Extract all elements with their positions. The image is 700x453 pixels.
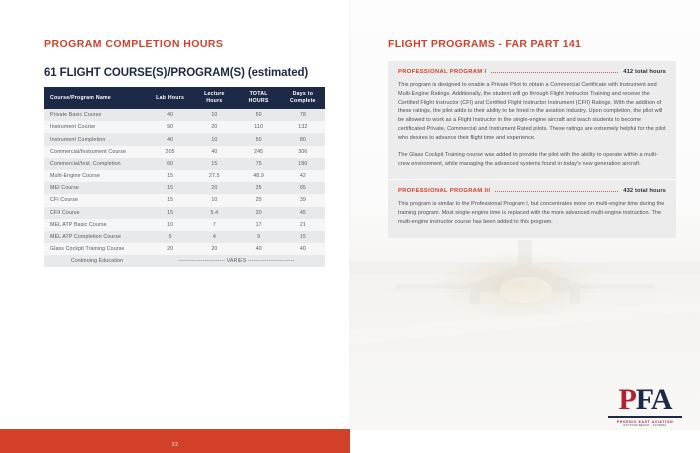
cell-lab-hours: 10	[148, 219, 192, 231]
leader-dots	[491, 72, 618, 73]
cell-lab-hours: 15	[148, 182, 192, 194]
cell-total-hours: 48.9	[237, 170, 281, 182]
cell-total-hours: 50	[237, 109, 281, 121]
professional-program-3-panel: PROFESSIONAL PROGRAM III 432 total hours…	[388, 180, 676, 237]
cell-lab-hours: 40	[148, 109, 192, 121]
program-1-paragraph-2: The Glass Cockpit Training course was ad…	[398, 151, 666, 169]
cell-lecture-hours: 10	[192, 194, 236, 206]
flight-courses-subtitle: 61 FLIGHT COURSE(S)/PROGRAM(S) (estimate…	[44, 67, 318, 79]
cell-lecture-hours: 10	[192, 109, 236, 121]
column-header-lab-hours: Lab Hours	[148, 87, 192, 109]
cell-days-to-complete: 80	[281, 133, 325, 145]
cell-course-name: MEL ATP Completion Course	[44, 231, 148, 243]
cell-total-hours: 50	[237, 133, 281, 145]
cell-total-hours: 35	[237, 182, 281, 194]
cell-lab-hours: 5	[148, 231, 192, 243]
cell-lab-hours: 20	[148, 243, 192, 255]
leader-dots	[495, 191, 618, 192]
column-header-lecture-hours: Lecture Hours	[192, 87, 236, 109]
cell-varies: ------------------------- VARIES -------…	[148, 255, 325, 267]
left-page-number: 22	[0, 442, 350, 448]
cell-days-to-complete: 39	[281, 194, 325, 206]
table-row: Private Basic Course40105078	[44, 109, 325, 121]
cell-course-name: MEL ATP Basic Course	[44, 219, 148, 231]
table-row: Commercial/Instrument Course20540245306	[44, 146, 325, 158]
pfa-logo-letters: PFA	[608, 385, 682, 415]
program-hours-table: Course/Program Name Lab Hours Lecture Ho…	[44, 87, 325, 267]
cell-course-name: MEI Course	[44, 182, 148, 194]
column-header-course-name: Course/Program Name	[44, 87, 148, 109]
cell-lab-hours: 205	[148, 146, 192, 158]
cell-total-hours: 17	[237, 219, 281, 231]
cell-course-name: Glass Cockpit Training Course	[44, 243, 148, 255]
table-header: Course/Program Name Lab Hours Lecture Ho…	[44, 87, 325, 109]
pfa-logo: PFA PHOENIX EAST AVIATION DAYTONA BEACH …	[608, 385, 682, 427]
table-row-continuing-education: Continuing Education--------------------…	[44, 255, 325, 267]
right-page-content: FLIGHT PROGRAMS - FAR PART 141 PROFESSIO…	[350, 0, 700, 238]
program-completion-hours-title: PROGRAM COMPLETION HOURS	[44, 38, 318, 50]
right-page: FLIGHT PROGRAMS - FAR PART 141 PROFESSIO…	[350, 0, 700, 453]
professional-program-3-heading: PROFESSIONAL PROGRAM III 432 total hours	[398, 188, 666, 194]
program-1-label: PROFESSIONAL PROGRAM I	[398, 69, 486, 75]
cell-lecture-hours: 40	[192, 146, 236, 158]
table-row: MEI Course15203565	[44, 182, 325, 194]
cell-days-to-complete: 15	[281, 231, 325, 243]
cell-total-hours: 40	[237, 243, 281, 255]
cell-lecture-hours: 20	[192, 182, 236, 194]
program-1-paragraph-1: This program is designed to enable a Pri…	[398, 81, 666, 143]
cell-lecture-hours: 7	[192, 219, 236, 231]
cell-lab-hours: 60	[148, 158, 192, 170]
cell-course-name: Commercial/Instrument Course	[44, 146, 148, 158]
flight-programs-title: FLIGHT PROGRAMS - FAR PART 141	[388, 38, 676, 50]
table-row: CFII Course155.42045	[44, 207, 325, 219]
cell-total-hours: 25	[237, 194, 281, 206]
cell-course-name: Commercial/Inst. Completion	[44, 158, 148, 170]
cell-lecture-hours: 20	[192, 121, 236, 133]
cell-lecture-hours: 10	[192, 133, 236, 145]
table-row: Commercial/Inst. Completion601575180	[44, 158, 325, 170]
program-3-label: PROFESSIONAL PROGRAM III	[398, 188, 490, 194]
cell-lecture-hours: 15	[192, 158, 236, 170]
cell-lab-hours: 15	[148, 207, 192, 219]
cell-days-to-complete: 40	[281, 243, 325, 255]
cell-days-to-complete: 180	[281, 158, 325, 170]
left-footer-bar: 22	[0, 429, 350, 453]
cell-days-to-complete: 42	[281, 170, 325, 182]
professional-program-1-panel: PROFESSIONAL PROGRAM I 412 total hours T…	[388, 61, 676, 179]
cell-lab-hours: 15	[148, 194, 192, 206]
cell-course-name: CFI Course	[44, 194, 148, 206]
cell-course-name: Instrument Course	[44, 121, 148, 133]
program-3-hours: 432 total hours	[623, 188, 666, 194]
cell-total-hours: 245	[237, 146, 281, 158]
cell-lecture-hours: 27.5	[192, 170, 236, 182]
program-1-hours: 412 total hours	[623, 69, 666, 75]
table-row: Glass Cockpit Training Course20204040	[44, 243, 325, 255]
table-row: CFI Course15102539	[44, 194, 325, 206]
table-row: MEL ATP Basic Course1071721	[44, 219, 325, 231]
logo-subtitle: PHOENIX EAST AVIATION	[608, 420, 682, 424]
table-row: MEL ATP Completion Course54915	[44, 231, 325, 243]
cell-days-to-complete: 21	[281, 219, 325, 231]
logo-divider	[608, 416, 682, 418]
cell-days-to-complete: 65	[281, 182, 325, 194]
cell-total-hours: 20	[237, 207, 281, 219]
table-row: Instrument Course9020110132	[44, 121, 325, 133]
cell-days-to-complete: 132	[281, 121, 325, 133]
logo-tagline: DAYTONA BEACH - FLORIDA	[608, 424, 682, 427]
table-body: Private Basic Course40105078Instrument C…	[44, 109, 325, 267]
professional-program-1-heading: PROFESSIONAL PROGRAM I 412 total hours	[398, 69, 666, 75]
cell-lecture-hours: 5.4	[192, 207, 236, 219]
cell-total-hours: 9	[237, 231, 281, 243]
cell-days-to-complete: 306	[281, 146, 325, 158]
cell-days-to-complete: 78	[281, 109, 325, 121]
cell-course-name: CFII Course	[44, 207, 148, 219]
page-spread: PROGRAM COMPLETION HOURS 61 FLIGHT COURS…	[0, 0, 700, 453]
cell-total-hours: 75	[237, 158, 281, 170]
cell-lab-hours: 15	[148, 170, 192, 182]
page-gutter-shadow	[349, 0, 351, 429]
table-row: Instrument Completion40105080	[44, 133, 325, 145]
cell-lab-hours: 90	[148, 121, 192, 133]
cell-lab-hours: 40	[148, 133, 192, 145]
left-page: PROGRAM COMPLETION HOURS 61 FLIGHT COURS…	[0, 0, 350, 453]
left-page-content: PROGRAM COMPLETION HOURS 61 FLIGHT COURS…	[0, 0, 350, 267]
program-3-paragraph-1: This program is similar to the Professio…	[398, 200, 666, 226]
column-header-total-hours: TOTAL HOURS	[237, 87, 281, 109]
cell-course-name: Multi-Engine Course	[44, 170, 148, 182]
cell-lecture-hours: 4	[192, 231, 236, 243]
cell-days-to-complete: 45	[281, 207, 325, 219]
cell-course-name: Instrument Completion	[44, 133, 148, 145]
cell-course-name: Continuing Education	[44, 255, 148, 267]
cell-course-name: Private Basic Course	[44, 109, 148, 121]
cell-lecture-hours: 20	[192, 243, 236, 255]
table-row: Multi-Engine Course1527.548.942	[44, 170, 325, 182]
table-header-row: Course/Program Name Lab Hours Lecture Ho…	[44, 87, 325, 109]
cell-total-hours: 110	[237, 121, 281, 133]
column-header-days-to-complete: Days to Complete	[281, 87, 325, 109]
